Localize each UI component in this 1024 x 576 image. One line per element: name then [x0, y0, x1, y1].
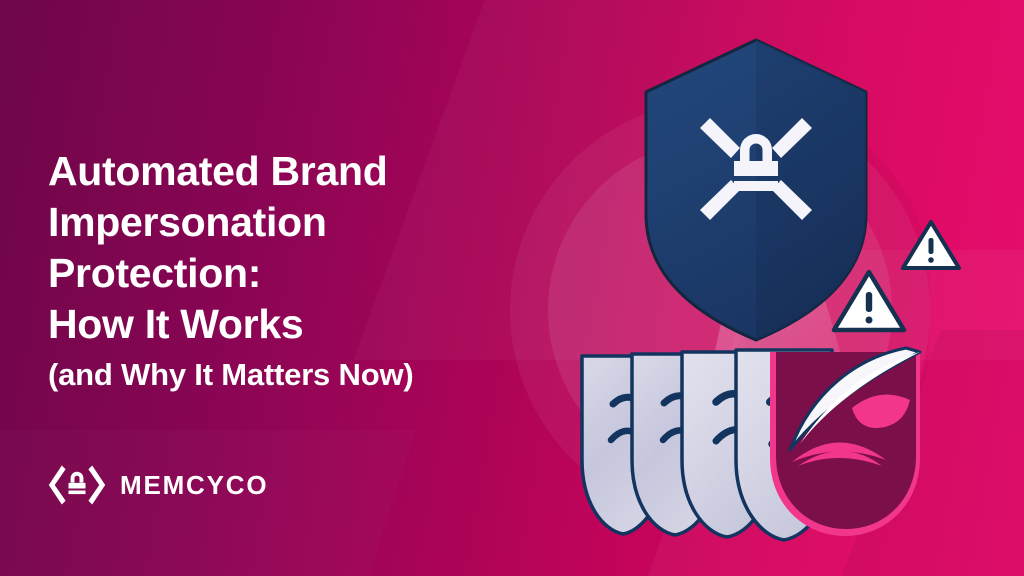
mask-angry-revealed: [770, 352, 920, 536]
headline-line-3: Protection:: [48, 248, 528, 299]
headline-line-4: How It Works: [48, 299, 528, 350]
hero-banner: Automated Brand Impersonation Protection…: [0, 0, 1024, 576]
mask-peel-curl: [790, 348, 920, 450]
warning-triangle-large: [834, 272, 904, 330]
security-shield-graphic: [646, 34, 880, 350]
brand-wordmark: MEMCYCO: [120, 472, 268, 498]
background-facet-3: [819, 330, 1024, 576]
light-beam: [700, 180, 860, 420]
background-ring-outer: [510, 100, 930, 520]
mask-smiling-2: [632, 354, 718, 535]
headline-line-2: Impersonation: [48, 197, 528, 248]
background-ring-shadow: [745, 100, 930, 520]
mask-smiling-3: [682, 352, 772, 537]
mask-smiling-1: [582, 356, 664, 534]
headline-line-1: Automated Brand: [48, 146, 528, 197]
headline-block: Automated Brand Impersonation Protection…: [48, 146, 528, 395]
brand-logo[interactable]: MEMCYCO: [48, 459, 268, 511]
lock-in-angle-brackets-icon: [48, 459, 106, 511]
shield-emblem-lock-brackets-icon: [700, 118, 812, 220]
background-facet-2: [614, 250, 1024, 576]
warning-triangle-small: [903, 222, 959, 268]
page-subtitle: (and Why It Matters Now): [48, 355, 528, 395]
background-ring-inner: [548, 138, 892, 482]
page-title: Automated Brand Impersonation Protection…: [48, 146, 528, 350]
mask-smiling-4: [736, 350, 832, 540]
